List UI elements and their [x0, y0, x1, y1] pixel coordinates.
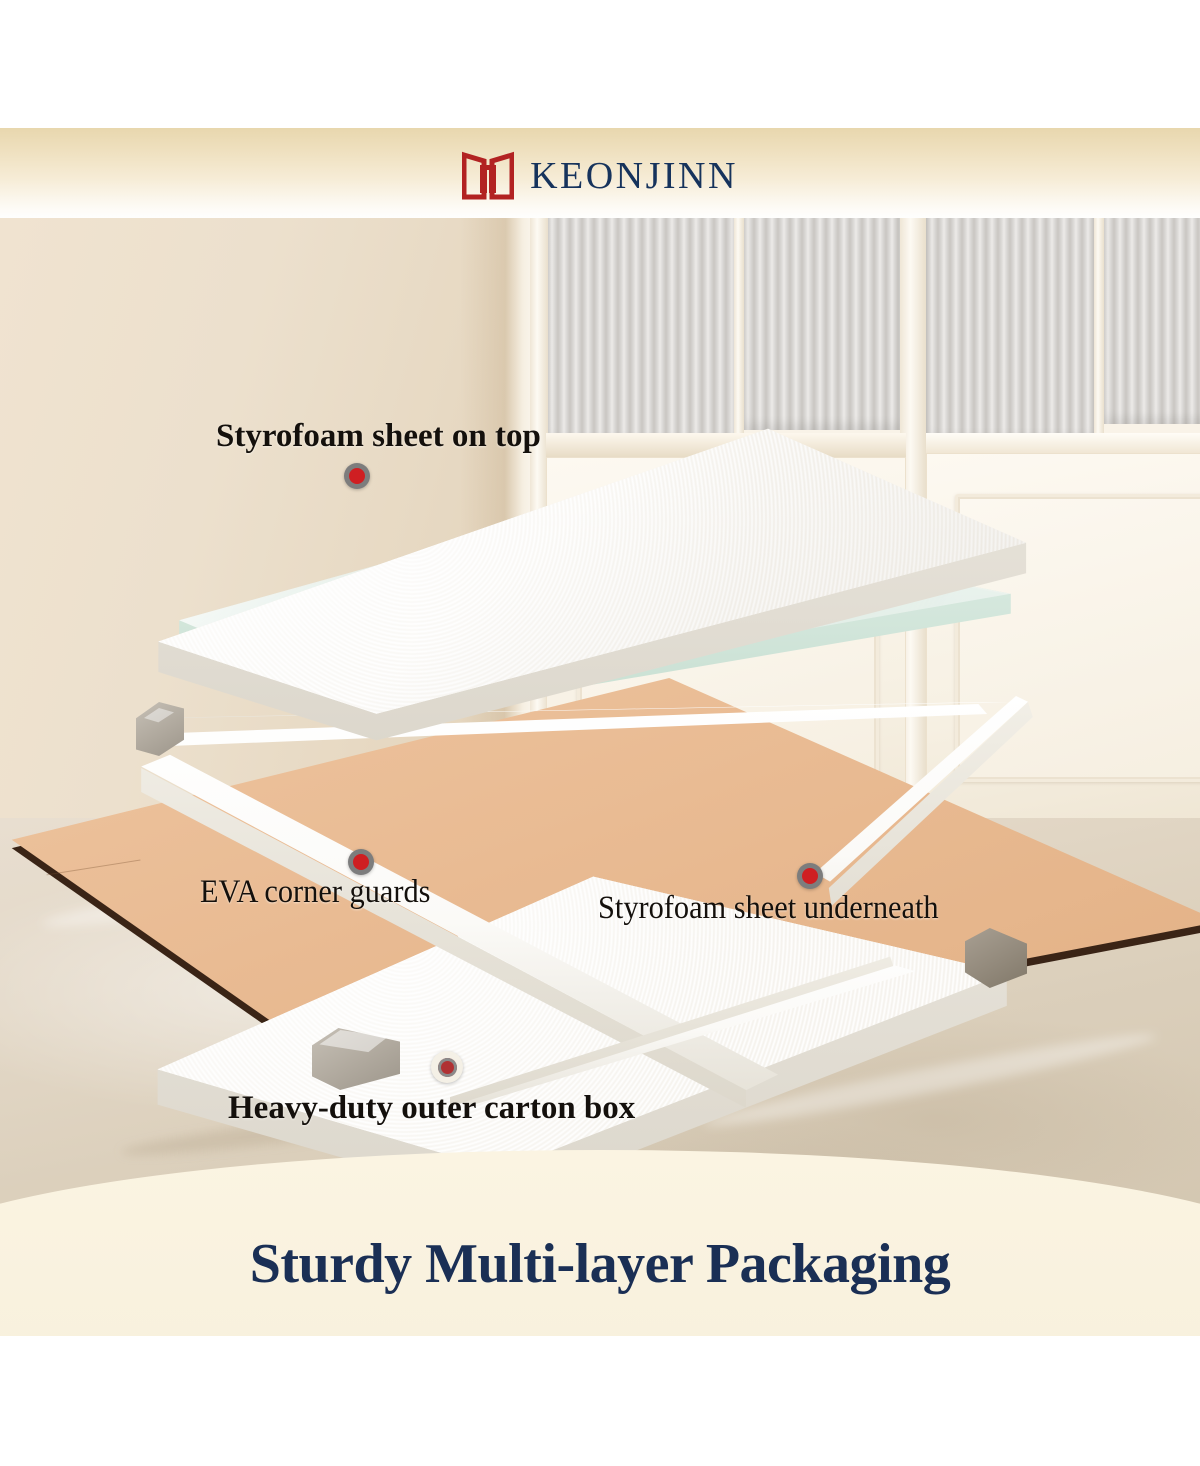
marker-dot-core [353, 854, 369, 870]
marker-dot-core [802, 868, 818, 884]
eva-corner-guard-right [965, 928, 1027, 988]
brand-lockup: KEONJINN [0, 146, 1200, 206]
fluted-glass-panel-right2 [1102, 218, 1200, 424]
open-double-door-icon [462, 151, 514, 201]
callout-eva-corner-guards: EVA corner guards [200, 874, 430, 911]
brand-name: KEONJINN [530, 157, 738, 195]
callout-styrofoam-top: Styrofoam sheet on top [216, 418, 541, 455]
packaging-photo-scene: Styrofoam sheet on top EVA corner guards… [0, 218, 1200, 1238]
marker-styrofoam-underneath[interactable] [797, 863, 823, 889]
callout-outer-carton: Heavy-duty outer carton box [228, 1090, 635, 1127]
product-feature-page: KEONJINN [0, 0, 1200, 1466]
marker-dot-core [438, 1058, 457, 1077]
marker-styrofoam-top[interactable] [344, 463, 370, 489]
callout-styrofoam-underneath: Styrofoam sheet underneath [598, 890, 939, 927]
cabinet-mullion-2 [1094, 218, 1104, 434]
marker-eva-corner-guards[interactable] [348, 849, 374, 875]
marker-outer-carton[interactable] [431, 1051, 463, 1083]
page-title: Sturdy Multi-layer Packaging [0, 1232, 1200, 1296]
marker-dot-core [349, 468, 365, 484]
bottom-white-strip [0, 1336, 1200, 1466]
